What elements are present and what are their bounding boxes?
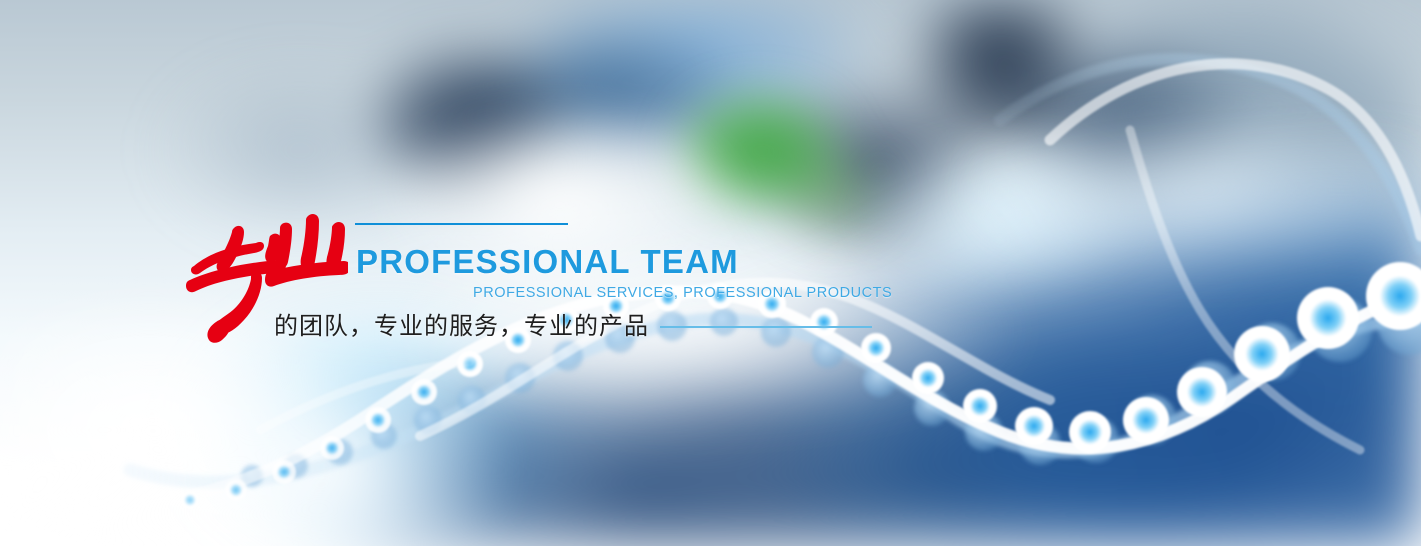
headline-professional-team: PROFESSIONAL TEAM (356, 243, 739, 281)
rule-above-headline (355, 223, 568, 225)
rule-beside-tagline (660, 326, 872, 328)
hero-banner: PROFESSIONAL TEAM PROFESSIONAL SERVICES,… (0, 0, 1421, 546)
banner-text-block: PROFESSIONAL TEAM PROFESSIONAL SERVICES,… (0, 0, 1421, 546)
subheadline-services-products: PROFESSIONAL SERVICES, PROFESSIONAL PROD… (473, 285, 892, 301)
tagline-chinese: 的团队，专业的服务，专业的产品 (274, 306, 649, 341)
